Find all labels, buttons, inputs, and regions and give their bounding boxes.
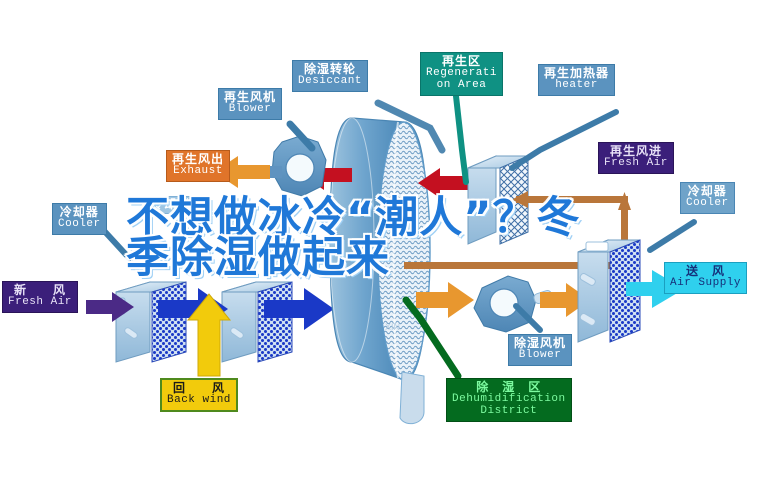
label-dehum-blower-cn: 除湿风机 bbox=[514, 337, 566, 350]
label-fresh-air-en: Fresh Air bbox=[8, 297, 72, 309]
diagram-canvas: XIN bbox=[0, 0, 757, 488]
label-cooler-left-en: Cooler bbox=[58, 219, 101, 231]
label-regeneration-area[interactable]: 再生区 Regenerati on Area bbox=[420, 52, 503, 96]
label-desiccant-en: Desiccant bbox=[298, 76, 362, 88]
cooler-unit-left bbox=[116, 282, 186, 362]
label-regen-fresh-air[interactable]: 再生风进 Fresh Air bbox=[598, 142, 674, 174]
label-regen-heater-cn: 再生加热器 bbox=[544, 67, 609, 80]
label-dehum-district-cn: 除 湿 区 bbox=[452, 381, 566, 394]
label-regen-blower-cn: 再生风机 bbox=[224, 91, 276, 104]
label-dehum-blower-en: Blower bbox=[514, 350, 566, 362]
label-back-wind-cn: 回 风 bbox=[167, 382, 231, 395]
label-exhaust-cn: 再生风出 bbox=[172, 153, 224, 166]
label-air-supply[interactable]: 送 风 Air Supply bbox=[664, 262, 747, 294]
label-dehumidification-blower[interactable]: 除湿风机 Blower bbox=[508, 334, 572, 366]
cooler-unit-middle bbox=[222, 282, 292, 362]
label-cooler-right[interactable]: 冷却器 Cooler bbox=[680, 182, 735, 214]
label-desiccant[interactable]: 除湿转轮 Desiccant bbox=[292, 60, 368, 92]
label-cooler-left-cn: 冷却器 bbox=[58, 206, 101, 219]
regeneration-blower bbox=[268, 136, 326, 196]
label-regen-fresh-air-en: Fresh Air bbox=[604, 158, 668, 170]
label-regen-fresh-air-cn: 再生风进 bbox=[604, 145, 668, 158]
label-cooler-right-cn: 冷却器 bbox=[686, 185, 729, 198]
label-regen-area-en2: on Area bbox=[426, 80, 497, 92]
label-exhaust-en: Exhaust bbox=[172, 166, 224, 178]
label-dehumidification-district[interactable]: 除 湿 区 Dehumidification District bbox=[446, 378, 572, 422]
label-cooler-middle-cn: 冷却器 bbox=[151, 198, 190, 211]
label-back-wind-en: Back wind bbox=[167, 395, 231, 407]
label-cooler-right-en: Cooler bbox=[686, 198, 729, 210]
label-cooler-middle[interactable]: 冷却器 bbox=[142, 196, 199, 214]
label-back-wind[interactable]: 回 风 Back wind bbox=[160, 378, 238, 412]
label-desiccant-cn: 除湿转轮 bbox=[298, 63, 362, 76]
label-regen-blower-en: Blower bbox=[224, 104, 276, 116]
label-fresh-air[interactable]: 新 风 Fresh Air bbox=[2, 281, 78, 313]
label-exhaust[interactable]: 再生风出 Exhaust bbox=[166, 150, 230, 182]
label-air-supply-en: Air Supply bbox=[670, 278, 741, 290]
label-regeneration-heater[interactable]: 再生加热器 heater bbox=[538, 64, 615, 96]
desiccant-wheel: XIN bbox=[330, 118, 430, 424]
dehumidifier-schematic: XIN bbox=[0, 0, 757, 488]
label-dehum-district-en2: District bbox=[452, 406, 566, 418]
svg-text:XIN: XIN bbox=[385, 322, 400, 332]
label-regen-area-cn: 再生区 bbox=[426, 55, 497, 68]
label-regeneration-blower[interactable]: 再生风机 Blower bbox=[218, 88, 282, 120]
label-cooler-left[interactable]: 冷却器 Cooler bbox=[52, 203, 107, 235]
label-fresh-air-cn: 新 风 bbox=[8, 284, 72, 297]
label-air-supply-cn: 送 风 bbox=[670, 265, 741, 278]
label-regen-heater-en: heater bbox=[544, 80, 609, 92]
